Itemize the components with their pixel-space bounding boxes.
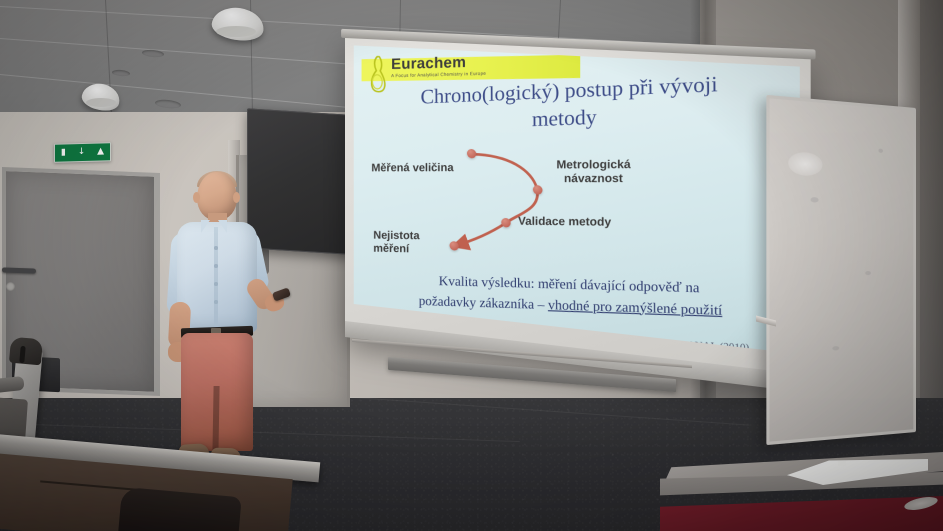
projected-slide: Eurachem A Focus for Analytical Chemistr… bbox=[354, 45, 800, 353]
diagram-label-validace-metody: Validace metody bbox=[518, 215, 611, 230]
ceiling-dome-speaker-lip bbox=[86, 98, 116, 107]
left-door-lock-icon bbox=[6, 282, 15, 291]
paper-corner bbox=[838, 461, 846, 466]
node3-line1: Validace metody bbox=[518, 215, 611, 229]
diagram-label-mereny-velicina: Měřená veličina bbox=[371, 162, 453, 176]
conclusion-prefix: požadavky zákazníka – bbox=[419, 292, 548, 312]
projection-screen: Eurachem A Focus for Analytical Chemistr… bbox=[345, 37, 811, 393]
node2-line2: návaznost bbox=[564, 173, 623, 186]
diagram-node-dot-1 bbox=[467, 149, 476, 159]
presenter-shirt-placket bbox=[214, 227, 218, 327]
emergency-exit-sign: ▮ ↓ ▲ bbox=[54, 142, 111, 163]
presenter-collar-right bbox=[218, 220, 227, 233]
lectern-front-panel bbox=[660, 496, 943, 531]
whiteboard-glare bbox=[788, 151, 822, 176]
exit-running-person-icon: ▲ bbox=[97, 147, 104, 156]
presenter-ear-right bbox=[233, 192, 240, 203]
conclusion-underlined: vhodné pro zamýšlené použití bbox=[548, 296, 722, 318]
lectern-desk[interactable] bbox=[660, 452, 943, 531]
diagram-node-dot-2 bbox=[533, 185, 543, 195]
exit-arrow-down-icon: ↓ bbox=[78, 148, 86, 157]
presenter bbox=[155, 172, 275, 472]
diagram-node-dot-3 bbox=[501, 218, 510, 228]
diagram-label-nejistota-mereni: Nejistota měření bbox=[373, 229, 419, 257]
eurachem-name: Eurachem bbox=[391, 54, 486, 72]
chair-top-cap bbox=[9, 337, 43, 366]
presenter-leg-separation bbox=[212, 386, 219, 454]
eurachem-logo-text: Eurachem A Focus for Analytical Chemistr… bbox=[391, 54, 486, 79]
whiteboard[interactable] bbox=[766, 95, 916, 445]
presentation-room-photo: ▮ ↓ ▲ Eurachem A Focus for Analytical Ch… bbox=[0, 0, 943, 531]
node4-line1: Nejistota bbox=[373, 229, 419, 242]
presenter-ear-left bbox=[193, 192, 200, 203]
node2-line1: Metrologická bbox=[556, 159, 630, 172]
node1-line1: Měřená veličina bbox=[371, 162, 453, 174]
diagram-label-metrologicka-navaznost: Metrologická návaznost bbox=[556, 159, 630, 188]
ceiling-dome-sensor-lip bbox=[216, 26, 256, 37]
diagram-node-dot-4 bbox=[450, 241, 459, 251]
node4-line2: měření bbox=[373, 243, 409, 256]
exit-door-icon: ▮ bbox=[61, 148, 66, 157]
presenter-collar-left bbox=[201, 220, 210, 233]
